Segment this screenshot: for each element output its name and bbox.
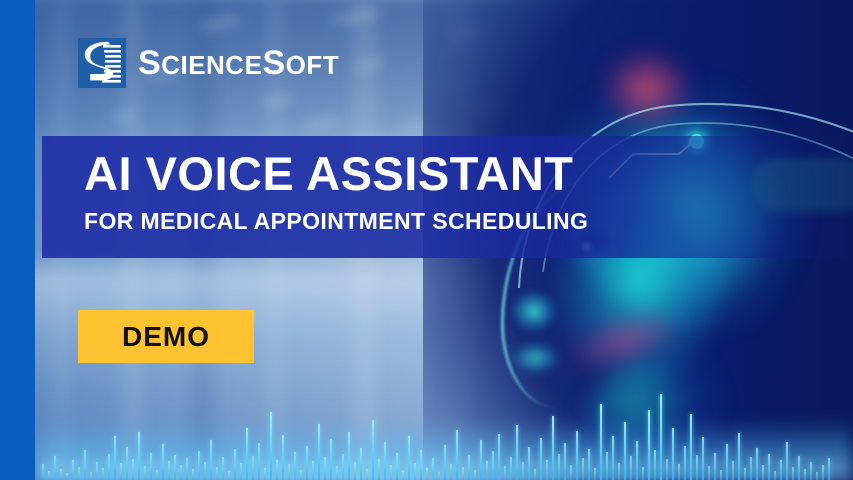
waveform-bar xyxy=(168,461,170,480)
waveform-bar xyxy=(546,460,548,480)
waveform-bar xyxy=(252,456,254,480)
waveform-bar xyxy=(204,462,206,480)
waveform-bar xyxy=(372,420,374,480)
waveform-bar xyxy=(564,443,566,480)
waveform-bar xyxy=(732,461,734,480)
waveform-bar xyxy=(120,463,122,480)
waveform-bar xyxy=(360,448,362,480)
left-blue-rail xyxy=(0,0,35,480)
waveform-bar xyxy=(276,460,278,480)
waveform-bar xyxy=(636,441,638,480)
waveform-bar xyxy=(270,412,272,480)
waveform-bar xyxy=(426,468,428,480)
waveform-bar xyxy=(642,467,644,480)
waveform-bar xyxy=(504,466,506,480)
waveform-bar xyxy=(528,447,530,480)
waveform-bar xyxy=(702,437,704,480)
waveform-bar xyxy=(150,453,152,480)
waveform-bar xyxy=(330,439,332,480)
waveform-bar xyxy=(138,432,140,480)
waveform-bar xyxy=(534,469,536,480)
audio-waveform-visualizer xyxy=(36,360,853,480)
waveform-bar xyxy=(666,459,668,480)
waveform-bar xyxy=(396,453,398,480)
waveform-bar xyxy=(402,471,404,480)
waveform-bar xyxy=(762,465,764,480)
waveform-bar xyxy=(786,442,788,480)
waveform-bar xyxy=(414,463,416,480)
waveform-bar xyxy=(42,464,44,480)
waveform-bar xyxy=(798,456,800,480)
waveform-bar xyxy=(474,470,476,480)
waveform-bar xyxy=(582,458,584,480)
waveform-bar xyxy=(312,461,314,480)
waveform-bar xyxy=(216,467,218,480)
waveform-bar xyxy=(366,469,368,480)
waveform-bar xyxy=(480,440,482,480)
waveform-bar xyxy=(738,433,740,480)
waveform-bar xyxy=(210,440,212,480)
waveform-bar xyxy=(600,404,602,480)
waveform-bar xyxy=(144,466,146,480)
waveform-bar xyxy=(570,465,572,480)
waveform-bar xyxy=(90,472,92,480)
waveform-bar xyxy=(294,452,296,480)
sciencesoft-s-logo-icon xyxy=(78,38,126,88)
waveform-bar xyxy=(198,451,200,480)
waveform-bar xyxy=(744,468,746,480)
waveform-bar xyxy=(780,460,782,480)
waveform-bar xyxy=(522,462,524,480)
waveform-bar xyxy=(696,455,698,480)
waveform-bar xyxy=(822,465,824,480)
waveform-bar xyxy=(246,428,248,480)
waveform-bar xyxy=(258,443,260,480)
waveform-bar xyxy=(552,416,554,480)
waveform-bar xyxy=(462,467,464,480)
waveform-bar xyxy=(78,467,80,480)
waveform-bar xyxy=(774,471,776,480)
waveform-bar xyxy=(156,470,158,480)
banner-canvas: SCIENCESOFT AI VOICE ASSISTANT FOR MEDIC… xyxy=(0,0,853,480)
waveform-bar xyxy=(612,436,614,480)
waveform-bar xyxy=(654,450,656,480)
waveform-bar xyxy=(84,450,86,480)
waveform-bar xyxy=(660,394,662,480)
waveform-bar xyxy=(492,451,494,480)
waveform-bar xyxy=(48,471,50,480)
waveform-bar xyxy=(186,458,188,480)
waveform-bar xyxy=(804,469,806,480)
waveform-bar xyxy=(510,457,512,480)
waveform-bar xyxy=(96,462,98,480)
waveform-bar xyxy=(234,449,236,480)
page-title: AI VOICE ASSISTANT xyxy=(84,150,574,197)
waveform-bar xyxy=(684,446,686,480)
waveform-bar xyxy=(432,458,434,480)
waveform-bar xyxy=(648,410,650,480)
waveform-bar xyxy=(516,425,518,480)
waveform-bar xyxy=(810,462,812,480)
waveform-bar xyxy=(438,472,440,480)
waveform-bar xyxy=(792,467,794,480)
waveform-bar xyxy=(342,454,344,480)
waveform-bar xyxy=(756,448,758,480)
waveform-bar xyxy=(222,457,224,480)
waveform-bar xyxy=(384,442,386,480)
waveform-bar xyxy=(630,456,632,480)
wordmark-oft: OFT xyxy=(286,50,340,80)
waveform-bar xyxy=(102,468,104,480)
waveform-bar xyxy=(54,456,56,480)
waveform-bar xyxy=(558,454,560,480)
waveform-bar xyxy=(606,452,608,480)
waveform-bar xyxy=(390,465,392,480)
waveform-bar xyxy=(114,436,116,480)
wordmark-s2: S xyxy=(262,44,285,82)
wordmark-s1: S xyxy=(138,44,161,82)
waveform-bar xyxy=(690,414,692,480)
waveform-bar xyxy=(618,463,620,480)
waveform-bar xyxy=(444,445,446,480)
wordmark-cience: CIENCE xyxy=(161,50,262,80)
sciencesoft-logo[interactable]: SCIENCESOFT xyxy=(78,38,339,88)
waveform-bar xyxy=(282,435,284,480)
waveform-bar xyxy=(828,458,830,480)
waveform-bar xyxy=(576,431,578,480)
waveform-bar xyxy=(456,430,458,480)
waveform-bar xyxy=(588,449,590,480)
waveform-bar xyxy=(420,450,422,480)
waveform-bar xyxy=(678,464,680,480)
waveform-bar xyxy=(318,424,320,480)
waveform-bar xyxy=(324,457,326,480)
waveform-bar xyxy=(174,455,176,480)
waveform-bar xyxy=(72,460,74,480)
waveform-bar xyxy=(354,462,356,480)
waveform-bar xyxy=(60,469,62,480)
waveform-bar xyxy=(540,438,542,480)
waveform-bar xyxy=(180,465,182,480)
waveform-bar xyxy=(714,453,716,480)
waveform-bar xyxy=(624,422,626,480)
waveform-bar xyxy=(594,468,596,480)
sciencesoft-wordmark: SCIENCESOFT xyxy=(138,46,339,80)
waveform-bar xyxy=(306,446,308,480)
demo-button[interactable]: DEMO xyxy=(78,310,254,363)
waveform-bar xyxy=(126,447,128,480)
waveform-bar xyxy=(336,466,338,480)
waveform-bar xyxy=(726,444,728,480)
waveform-bar xyxy=(378,459,380,480)
waveform-bar xyxy=(108,454,110,480)
waveform-bar xyxy=(498,434,500,480)
waveform-bar xyxy=(408,436,410,480)
waveform-bar xyxy=(132,459,134,480)
waveform-bar xyxy=(708,466,710,480)
waveform-bar xyxy=(750,457,752,480)
waveform-bar xyxy=(720,470,722,480)
waveform-bar xyxy=(264,468,266,480)
waveform-bar xyxy=(486,461,488,480)
waveform-bar xyxy=(768,454,770,480)
waveform-bar xyxy=(468,455,470,480)
waveform-bar xyxy=(672,428,674,480)
waveform-bar xyxy=(288,464,290,480)
waveform-bar xyxy=(66,473,68,480)
waveform-bar xyxy=(228,471,230,480)
waveform-bar xyxy=(816,472,818,480)
waveform-bar xyxy=(192,469,194,480)
waveform-bar xyxy=(162,444,164,480)
waveform-bar xyxy=(300,470,302,480)
waveform-bar xyxy=(240,463,242,480)
waveform-bar xyxy=(450,464,452,480)
waveform-bar xyxy=(348,432,350,480)
page-subtitle: FOR MEDICAL APPOINTMENT SCHEDULING xyxy=(84,210,588,233)
